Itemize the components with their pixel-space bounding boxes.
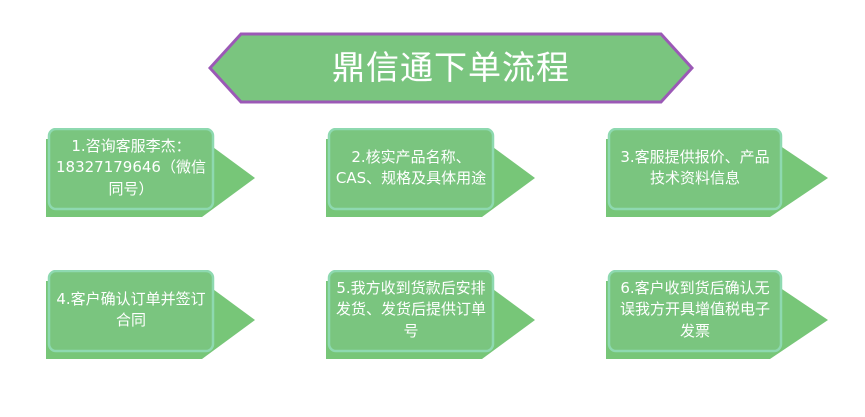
process-step-3[interactable]: 3.客服提供报价、产品技术资料信息 (602, 128, 830, 218)
step-label: 5.我方收到货款后安排发货、发货后提供订单号 (329, 270, 493, 350)
step-label: 2.核实产品名称、CAS、规格及具体用途 (329, 128, 493, 208)
step-label: 4.客户确认订单并签订合同 (49, 270, 213, 350)
flowchart-title-banner: 鼎信通下单流程 (208, 31, 694, 105)
step-label: 1.咨询客服李杰：18327179646（微信同号） (49, 128, 213, 208)
process-step-2[interactable]: 2.核实产品名称、CAS、规格及具体用途 (322, 128, 537, 218)
step-label: 3.客服提供报价、产品技术资料信息 (609, 128, 781, 208)
step-label: 6.客户收到货后确认无误我方开具增值税电子发票 (609, 270, 781, 350)
flowchart-canvas: 鼎信通下单流程 1.咨询客服李杰：18327179646（微信同号） 2.核实产… (0, 0, 865, 417)
process-step-1[interactable]: 1.咨询客服李杰：18327179646（微信同号） (42, 128, 257, 218)
process-step-5[interactable]: 5.我方收到货款后安排发货、发货后提供订单号 (322, 270, 537, 360)
process-step-4[interactable]: 4.客户确认订单并签订合同 (42, 270, 257, 360)
process-step-6[interactable]: 6.客户收到货后确认无误我方开具增值税电子发票 (602, 270, 830, 360)
page-title: 鼎信通下单流程 (208, 31, 694, 105)
